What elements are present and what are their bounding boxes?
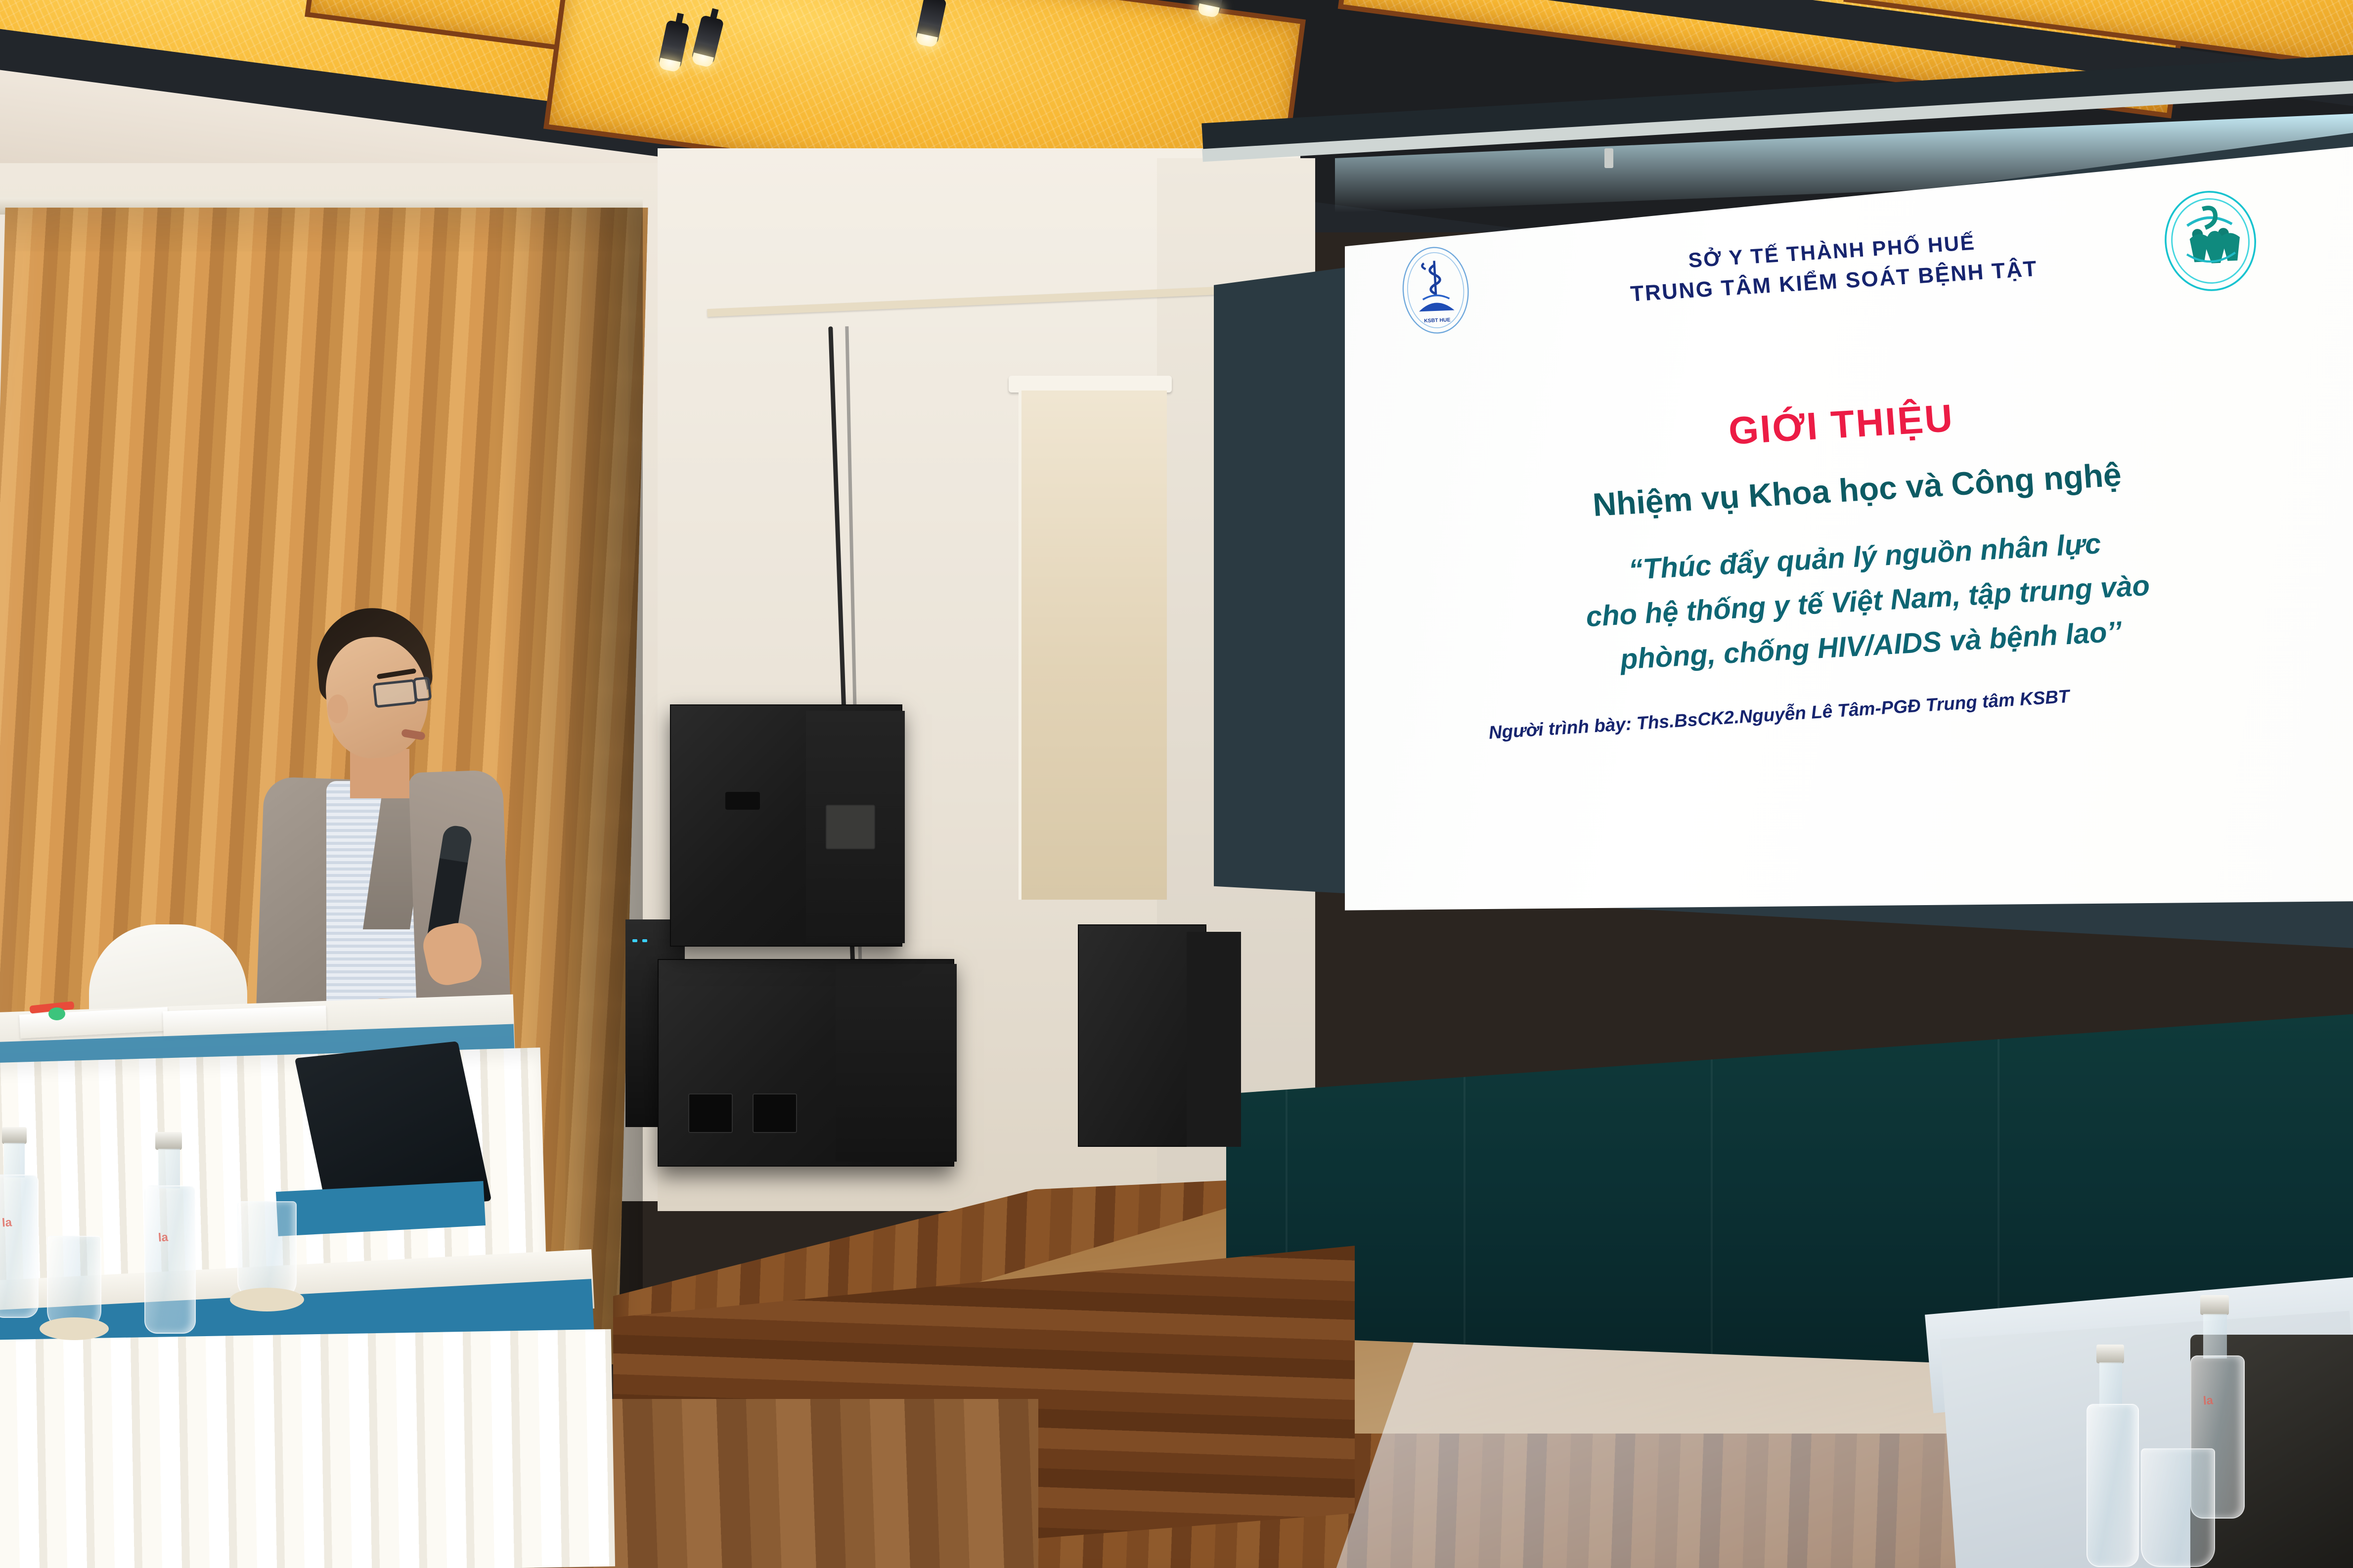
drinking-glass xyxy=(237,1201,297,1300)
coaster xyxy=(40,1317,109,1340)
subwoofer-side xyxy=(836,964,957,1162)
caduceus-seal-icon: KSBT HUE xyxy=(1396,243,1475,338)
skirt-fold xyxy=(1711,1023,1713,1369)
stage-monitor-side xyxy=(1187,932,1241,1147)
conference-room-photo: KSBT HUE SỞ Y TẾ THÀNH PHỐ HUẾ TRUNG TÂM… xyxy=(0,0,2353,1568)
slide-title: GIỚI THIỆU xyxy=(1507,382,2176,467)
presentation-slide: KSBT HUE SỞ Y TẾ THÀNH PHỐ HUẾ TRUNG TÂM… xyxy=(1365,126,2353,993)
pa-speaker-side xyxy=(806,711,905,943)
slide-quote: “Thúc đẩy quản lý nguồn nhân lực cho hệ … xyxy=(1468,513,2267,690)
slide-organization-header: SỞ Y TẾ THÀNH PHỐ HUẾ TRUNG TÂM KIỂM SOÁ… xyxy=(1527,218,2139,316)
drinking-glass xyxy=(2141,1448,2215,1567)
window-blind xyxy=(1019,391,1167,900)
eyeglasses-lens xyxy=(373,679,418,708)
drinking-glass xyxy=(47,1236,101,1330)
svg-text:KSBT HUE: KSBT HUE xyxy=(1424,317,1451,324)
coaster xyxy=(230,1288,304,1311)
eyeglasses-lens xyxy=(413,676,432,701)
front-table-skirt xyxy=(0,1329,615,1568)
cdc-family-seal-icon xyxy=(2158,187,2263,295)
ear xyxy=(327,695,348,723)
skirt-fold xyxy=(1464,1038,1465,1384)
blind-headrail xyxy=(1009,376,1172,392)
skirt-fold xyxy=(1998,1013,1999,1359)
marker-cap xyxy=(48,1007,65,1020)
